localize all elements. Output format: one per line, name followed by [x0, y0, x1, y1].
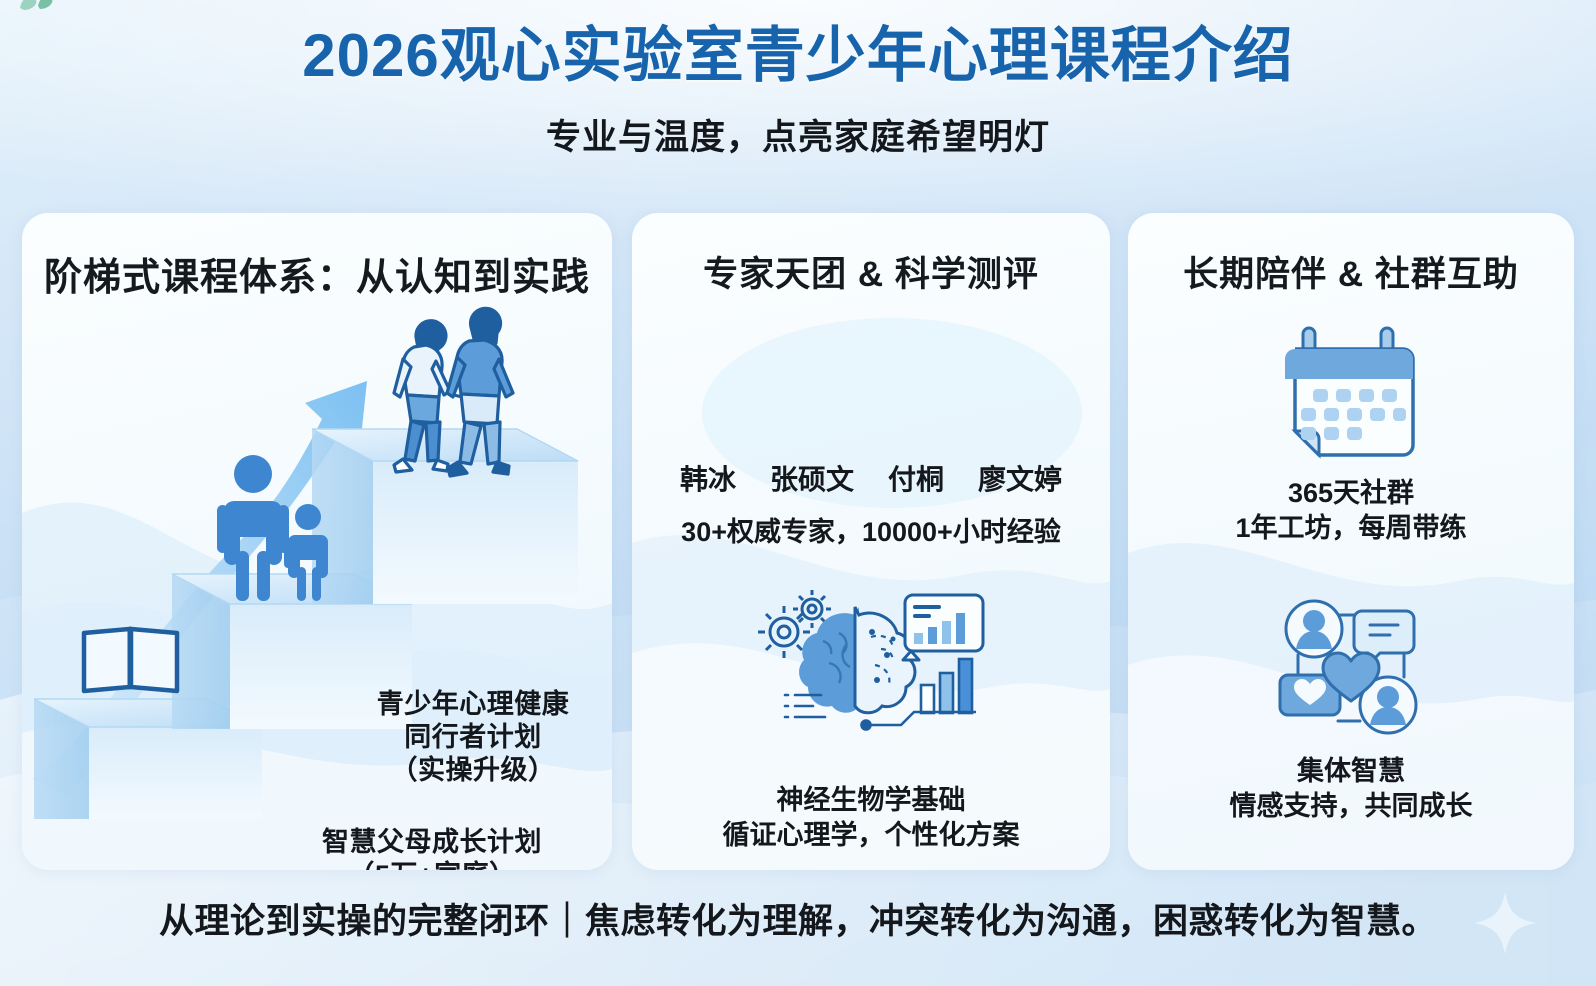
expert-name: 张硕文 [770, 458, 854, 498]
expert-name: 韩冰 [680, 458, 736, 498]
card2-title: 专家天团 & 科学测评 [632, 213, 1110, 297]
bar-chart-icon [921, 659, 972, 713]
card3-cap2-line1: 集体智慧 [1128, 754, 1574, 789]
brain-left-lobe [799, 607, 859, 713]
card1-title: 阶梯式课程体系：从认知到实践 [22, 213, 612, 301]
brand-logo-icon [16, 0, 62, 20]
step-3-label-line3: （实操升级） [339, 754, 607, 787]
expert-statistics: 30+权威专家，10000+小时经验 [632, 510, 1110, 549]
step-3-label-line2: 同行者计划 [339, 721, 607, 754]
card2-caption-line1: 神经生物学基础 [632, 783, 1110, 818]
card-course-ladder[interactable]: 阶梯式课程体系：从认知到实践 [22, 213, 612, 870]
page-header: 2026观心实验室青少年心理课程介绍 专业与温度，点亮家庭希望明灯 [0, 0, 1596, 160]
card3-title: 长期陪伴 & 社群互助 [1128, 213, 1574, 297]
card3-cap2-line2: 情感支持，共同成长 [1128, 789, 1574, 824]
step-3 [312, 429, 578, 604]
card2-caption: 神经生物学基础 循证心理学，个性化方案 [632, 783, 1110, 852]
step-2-label: 智慧父母成长计划 （5万+家庭） [267, 826, 597, 870]
card3-caption-community: 365天社群 1年工坊，每周带练 [1128, 476, 1574, 546]
expert-name: 廖文婷 [978, 458, 1062, 498]
calendar-icon [1281, 323, 1421, 463]
page-title: 2026观心实验室青少年心理课程介绍 [0, 0, 1596, 87]
step-2-label-line2: （5万+家庭） [267, 859, 597, 870]
card-longterm-community[interactable]: 长期陪伴 & 社群互助 [1128, 213, 1574, 870]
page-subtitle: 专业与温度，点亮家庭希望明灯 [0, 109, 1596, 160]
community-support-icon [1276, 593, 1426, 743]
card-experts-assessment[interactable]: 专家天团 & 科学测评 韩冰 张硕文 付桐 廖文婷 30+权威专家，10000+… [632, 213, 1110, 870]
step-2-label-line1: 智慧父母成长计划 [267, 826, 597, 859]
card3-caption-wisdom: 集体智慧 情感支持，共同成长 [1128, 754, 1574, 824]
expert-name-row: 韩冰 张硕文 付桐 廖文婷 [632, 458, 1110, 498]
brain-analytics-icon [751, 585, 991, 770]
card3-cap1-line1: 365天社群 [1128, 476, 1574, 511]
expert-name: 付桐 [888, 458, 944, 498]
card3-cap1-line2: 1年工坊，每周带练 [1128, 511, 1574, 546]
avatar-icon [1286, 601, 1342, 657]
connector-line [862, 712, 977, 730]
open-book-icon [84, 629, 177, 691]
card2-caption-line2: 循证心理学，个性化方案 [632, 818, 1110, 853]
dashboard-panel-icon [903, 595, 983, 660]
footer-tagline: 从理论到实操的完整闭环｜焦虑转化为理解，冲突转化为沟通，困惑转化为智慧。 [0, 893, 1596, 944]
step-3-label: 青少年心理健康 同行者计划 （实操升级） [339, 688, 607, 787]
step-3-label-line1: 青少年心理健康 [339, 688, 607, 721]
